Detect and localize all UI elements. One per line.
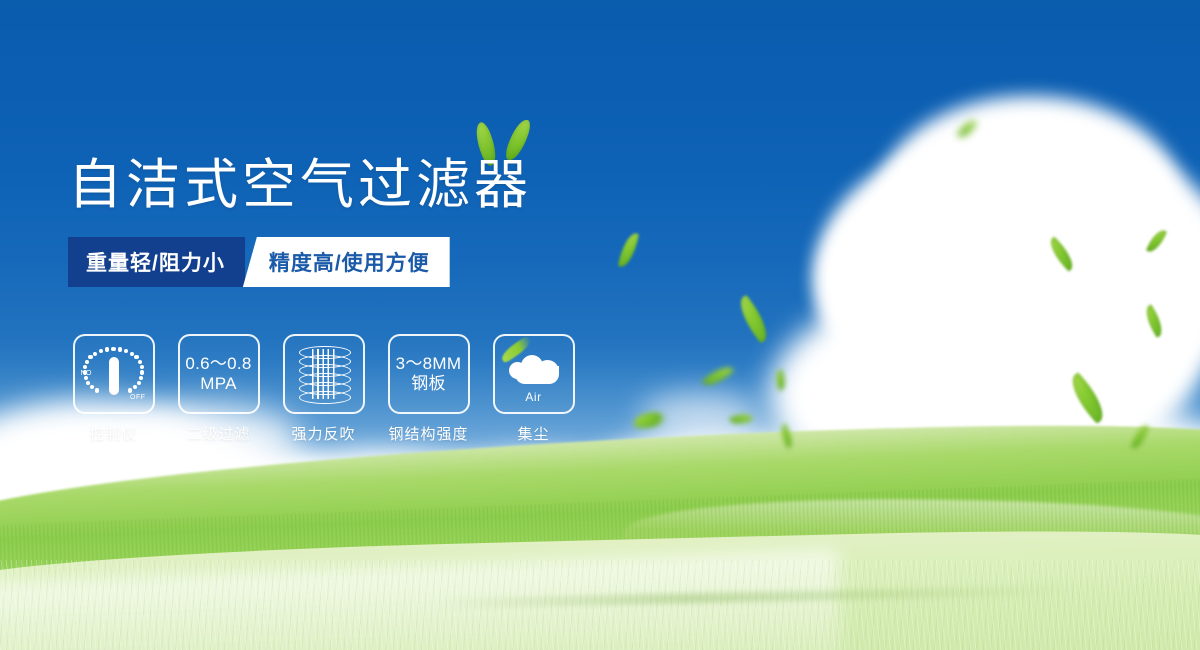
feature-caption: 钢结构强度: [388, 423, 468, 444]
gauge-needle: [109, 357, 119, 395]
feature-caption: 二级过滤: [186, 423, 250, 444]
feature-item-steel[interactable]: 3～8MM 钢板 钢结构强度: [383, 334, 474, 444]
feature-list: NO OFF 控制仪 0.6～0.8 MPA 二级过滤: [68, 334, 579, 444]
subtitle-right-panel: 精度高/使用方便: [243, 237, 450, 287]
gauge-icon: NO OFF: [83, 345, 145, 403]
feature-item-pressure[interactable]: 0.6～0.8 MPA 二级过滤: [173, 334, 264, 444]
feature-item-blowback[interactable]: 强力反吹: [278, 334, 369, 444]
feature-item-dust-collection[interactable]: Air 集尘: [488, 334, 579, 444]
subtitle-left-panel: 重量轻/阻力小: [68, 237, 245, 287]
feature-box: NO OFF: [73, 334, 155, 414]
air-cloud-icon: Air: [503, 346, 565, 402]
feature-caption: 集尘: [517, 423, 549, 444]
feature-box: 0.6～0.8 MPA: [178, 334, 260, 414]
air-label: Air: [503, 390, 565, 404]
page-title: 自洁式空气过滤器: [68, 140, 532, 219]
feature-box: [283, 334, 365, 414]
feature-caption: 控制仪: [89, 423, 137, 444]
feature-caption: 强力反吹: [291, 423, 355, 444]
pressure-value-line1: 0.6～0.8: [185, 354, 251, 374]
hero-banner: 自洁式空气过滤器 重量轻/阻力小 精度高/使用方便: [0, 0, 1200, 650]
feature-item-controller[interactable]: NO OFF 控制仪: [68, 334, 159, 444]
filter-cartridge-icon: [299, 346, 349, 402]
pressure-value-line2: MPA: [200, 374, 236, 394]
steel-value-line2: 钢板: [411, 374, 446, 394]
feature-box: 3～8MM 钢板: [388, 334, 470, 414]
cloud-right-edge: [820, 210, 970, 350]
gauge-label-no: NO: [81, 370, 93, 378]
steel-value-line1: 3～8MM: [396, 354, 462, 374]
gauge-label-off: OFF: [130, 394, 146, 402]
feature-box: Air: [493, 334, 575, 414]
cloud-body: [515, 366, 559, 384]
subtitle-bar: 重量轻/阻力小 精度高/使用方便: [68, 237, 450, 287]
